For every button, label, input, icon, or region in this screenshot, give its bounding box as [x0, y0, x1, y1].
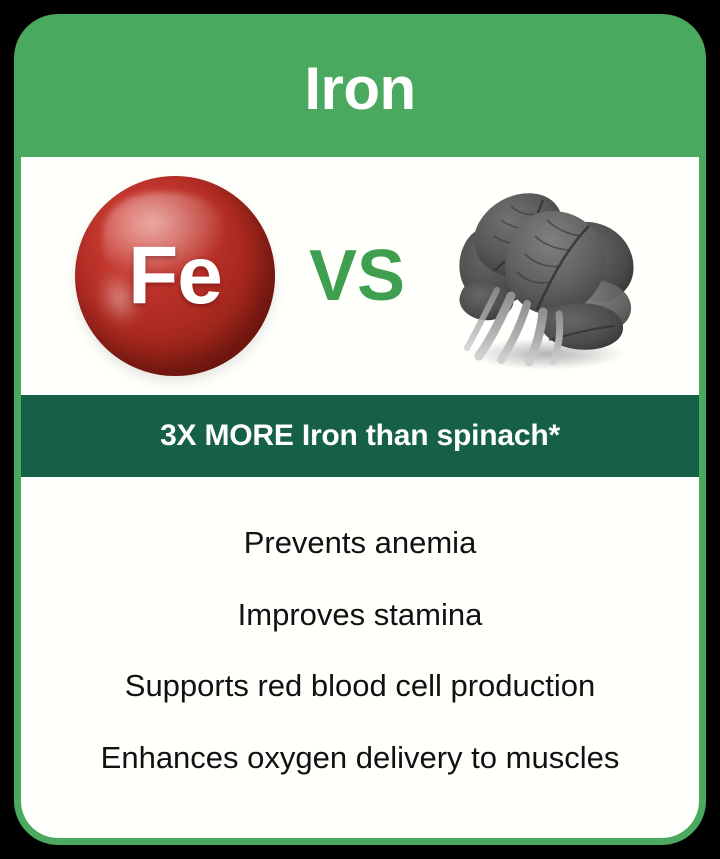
benefits-list: Prevents anemia Improves stamina Support…: [21, 477, 699, 838]
card-header: Iron: [21, 21, 699, 157]
iron-sphere-icon: Fe: [75, 176, 275, 376]
spinach-bunch-image: [439, 178, 645, 374]
nutrient-card: Iron Fe VS: [14, 14, 706, 845]
list-item: Improves stamina: [37, 579, 683, 651]
screen-background: Iron Fe VS: [0, 0, 720, 859]
claim-text: 3X MORE Iron than spinach*: [160, 421, 560, 451]
list-item: Supports red blood cell production: [37, 650, 683, 722]
element-symbol-label: Fe: [128, 235, 222, 317]
list-item: Enhances oxygen delivery to muscles: [37, 722, 683, 794]
versus-label: VS: [309, 240, 405, 312]
list-item: Prevents anemia: [37, 507, 683, 579]
comparison-band: Fe VS: [21, 157, 699, 395]
claim-banner: 3X MORE Iron than spinach*: [21, 395, 699, 477]
page-title: Iron: [304, 59, 415, 119]
